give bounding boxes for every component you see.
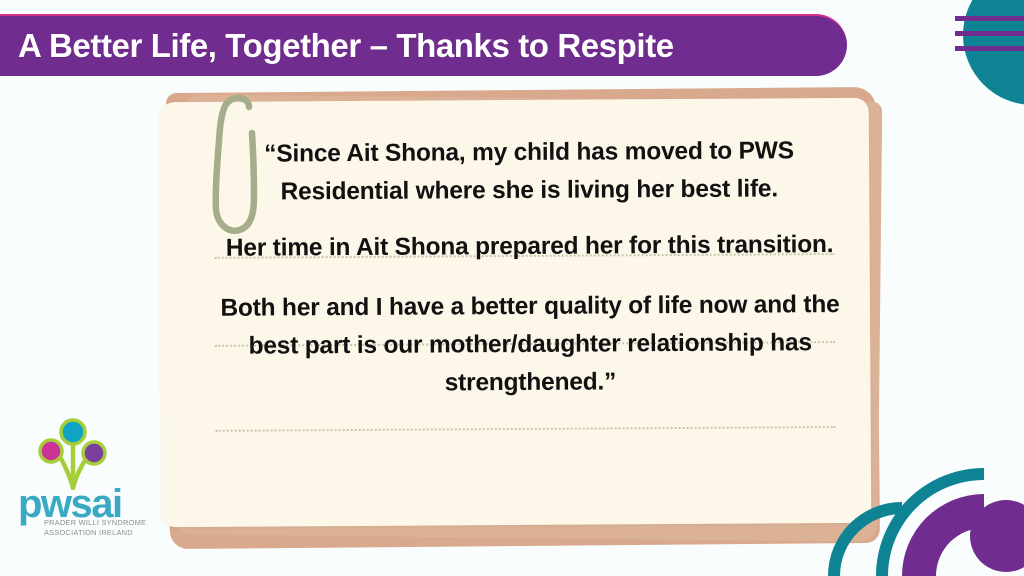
slide-canvas: A Better Life, Together – Thanks to Resp… bbox=[0, 0, 1024, 576]
quote-text-block: “Since Ait Shona, my child has moved to … bbox=[209, 124, 851, 528]
logo-subtitle-line-1: PRADER WILLI SYNDROME bbox=[44, 518, 154, 528]
purple-line-icon-1 bbox=[955, 16, 1024, 21]
quote-paragraph-1: “Since Ait Shona, my child has moved to … bbox=[209, 132, 849, 212]
purple-arc-icon bbox=[902, 494, 984, 576]
logo-subtitle-line-2: ASSOCIATION IRELAND bbox=[44, 528, 154, 538]
quote-paragraph-3: Both her and I have a better quality of … bbox=[210, 286, 851, 404]
quote-card: “Since Ait Shona, my child has moved to … bbox=[150, 84, 890, 554]
pwsai-logo: pwsai PRADER WILLI SYNDROME ASSOCIATION … bbox=[18, 418, 148, 543]
purple-line-icon-2 bbox=[955, 31, 1024, 36]
paperclip-icon bbox=[192, 89, 272, 249]
purple-circle-icon bbox=[970, 500, 1024, 572]
page-title: A Better Life, Together – Thanks to Resp… bbox=[0, 27, 674, 65]
purple-line-icon-3 bbox=[955, 46, 1024, 51]
title-banner: A Better Life, Together – Thanks to Resp… bbox=[0, 14, 847, 76]
quote-paragraph-2: Her time in Ait Shona prepared her for t… bbox=[209, 226, 849, 268]
logo-subtitle: PRADER WILLI SYNDROME ASSOCIATION IRELAN… bbox=[44, 518, 154, 538]
pwsai-flower-icon bbox=[36, 418, 110, 490]
teal-arc-icon-2 bbox=[876, 468, 984, 576]
